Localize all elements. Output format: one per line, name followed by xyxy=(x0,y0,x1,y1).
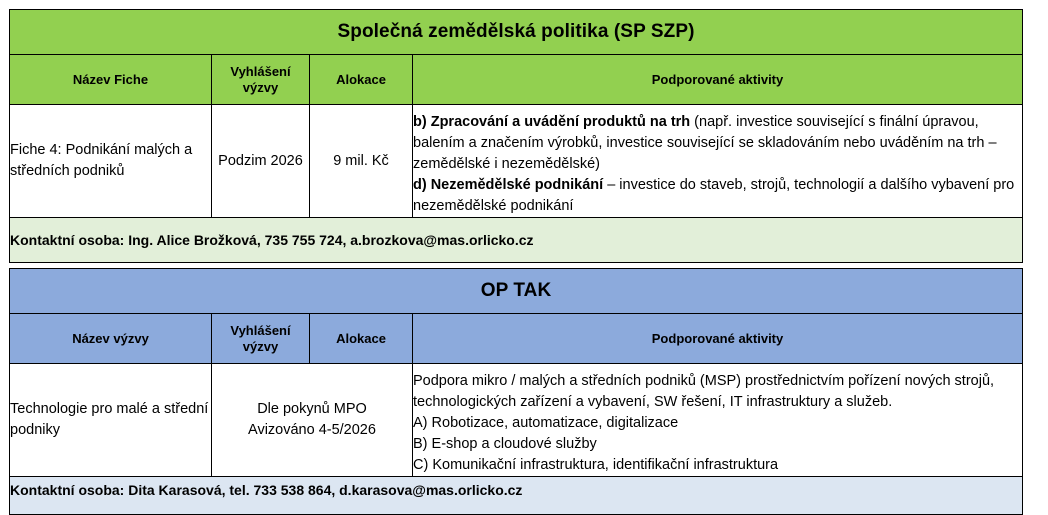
cell-allocation: 9 mil. Kč xyxy=(310,105,413,218)
column-header-vyhlaseni-vyzvy: Vyhlášení výzvy xyxy=(212,55,310,105)
column-header-line-2: výzvy xyxy=(243,339,278,354)
table-header-row: Název výzvy Vyhlášení výzvy Alokace Podp… xyxy=(10,314,1023,364)
column-header-alokace: Alokace xyxy=(310,314,413,364)
column-header-alokace: Alokace xyxy=(310,55,413,105)
activity-item: d) Nezemědělské podnikání – investice do… xyxy=(413,175,1022,217)
activity-item: b) Zpracování a uvádění produktů na trh … xyxy=(413,112,1022,175)
table-row: Fiche 4: Podnikání malých a středních po… xyxy=(10,105,1023,218)
table-sp-szp: Společná zemědělská politika (SP SZP) Ná… xyxy=(9,9,1023,263)
table-op-tak: OP TAK Název výzvy Vyhlášení výzvy Aloka… xyxy=(9,268,1023,515)
table-title-row: OP TAK xyxy=(10,269,1023,314)
cell-supported-activities: Podpora mikro / malých a středních podni… xyxy=(413,364,1023,477)
table-title-row: Společná zemědělská politika (SP SZP) xyxy=(10,10,1023,55)
column-header-line-2: výzvy xyxy=(243,80,278,95)
activity-item: A) Robotizace, automatizace, digitalizac… xyxy=(413,413,1022,434)
activity-title: b) Zpracování a uvádění produktů na trh xyxy=(413,114,690,130)
cell-call-date: Podzim 2026 xyxy=(212,105,310,218)
column-header-line-1: Vyhlášení xyxy=(230,64,290,79)
contact-person-sp-szp: Kontaktní osoba: Ing. Alice Brožková, 73… xyxy=(10,218,1023,263)
column-header-nazev-fiche: Název Fiche xyxy=(10,55,212,105)
activity-item: B) E-shop a cloudové služby xyxy=(413,434,1022,455)
document-page: Společná zemědělská politika (SP SZP) Ná… xyxy=(0,0,1048,504)
activity-item: C) Komunikační infrastruktura, identifik… xyxy=(413,455,1022,476)
column-header-podporovane-aktivity: Podporované aktivity xyxy=(413,314,1023,364)
column-header-nazev-vyzvy: Název výzvy xyxy=(10,314,212,364)
table-row: Technologie pro malé a střední podniky D… xyxy=(10,364,1023,477)
table-contact-row: Kontaktní osoba: Dita Karasová, tel. 733… xyxy=(10,477,1023,515)
activity-title: d) Nezemědělské podnikání xyxy=(413,177,603,193)
column-header-podporovane-aktivity: Podporované aktivity xyxy=(413,55,1023,105)
table-contact-row: Kontaktní osoba: Ing. Alice Brožková, 73… xyxy=(10,218,1023,263)
column-header-vyhlaseni-vyzvy: Vyhlášení výzvy xyxy=(212,314,310,364)
cell-call-name: Technologie pro malé a střední podniky xyxy=(10,364,212,477)
cell-supported-activities: b) Zpracování a uvádění produktů na trh … xyxy=(413,105,1023,218)
activity-item: Podpora mikro / malých a středních podni… xyxy=(413,371,1022,413)
column-header-line-1: Vyhlášení xyxy=(230,323,290,338)
table-header-row: Název Fiche Vyhlášení výzvy Alokace Podp… xyxy=(10,55,1023,105)
cell-fiche-name: Fiche 4: Podnikání malých a středních po… xyxy=(10,105,212,218)
table-title-sp-szp: Společná zemědělská politika (SP SZP) xyxy=(10,10,1023,55)
call-date-line-2: Avizováno 4-5/2026 xyxy=(248,422,376,438)
cell-call-date: Dle pokynů MPO Avizováno 4-5/2026 xyxy=(212,364,413,477)
table-title-op-tak: OP TAK xyxy=(10,269,1023,314)
call-date-line-1: Dle pokynů MPO xyxy=(257,401,367,417)
contact-person-op-tak: Kontaktní osoba: Dita Karasová, tel. 733… xyxy=(10,477,1023,515)
